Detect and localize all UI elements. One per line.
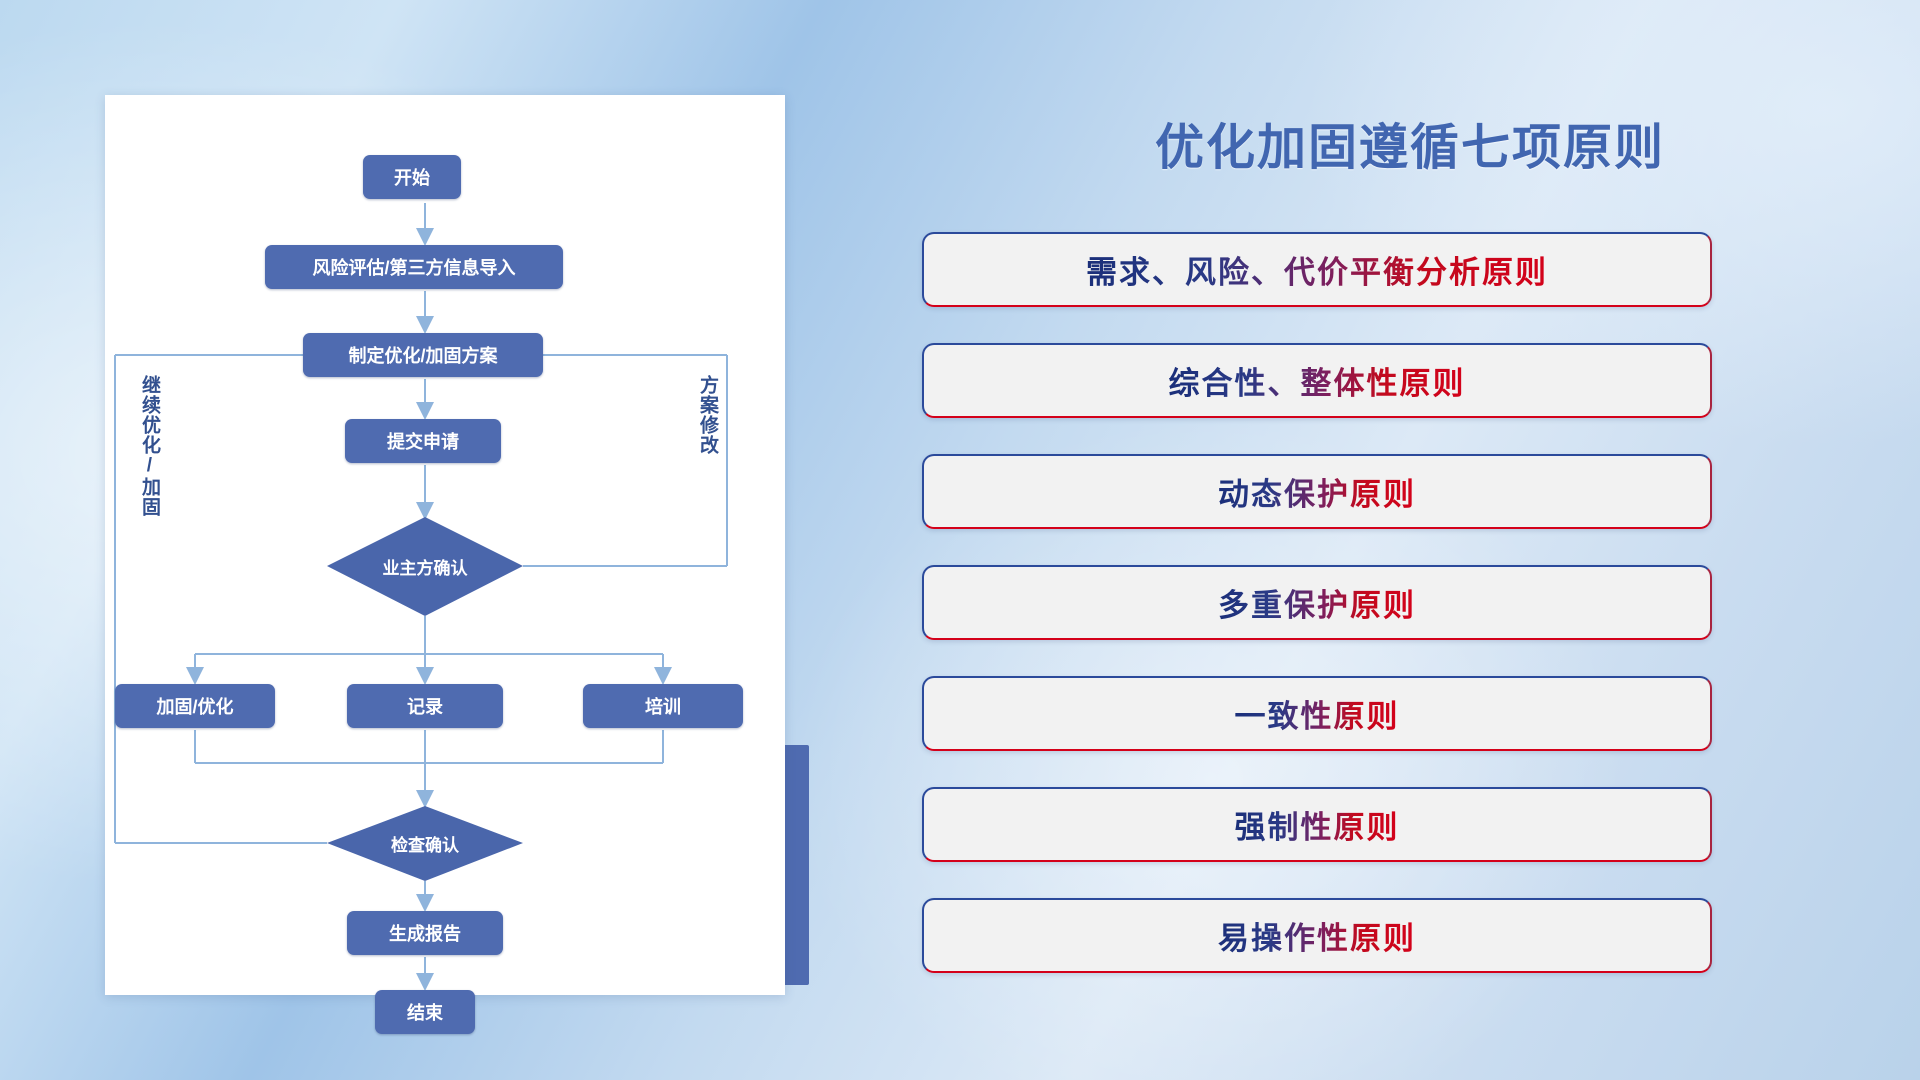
principle-card-3[interactable]: 动态保护原则 bbox=[922, 454, 1712, 529]
flow-node-record-label: 记录 bbox=[407, 693, 443, 719]
flow-node-check-confirm[interactable]: 检查确认 bbox=[327, 806, 523, 881]
flow-node-report[interactable]: 生成报告 bbox=[347, 911, 503, 955]
edge-label-right-loop: 方案修改 bbox=[697, 375, 717, 455]
principle-card-1[interactable]: 需求、风险、代价平衡分析原则 bbox=[922, 232, 1712, 307]
principle-card-3-label: 动态保护原则 bbox=[1218, 469, 1416, 514]
principle-card-6[interactable]: 强制性原则 bbox=[922, 787, 1712, 862]
flowchart-card: 继续优化/加固 方案修改 开始 风险评估/第三方信息导入 制定优化/加固方案 提… bbox=[105, 95, 785, 995]
principle-card-5-label: 一致性原则 bbox=[1235, 691, 1400, 736]
flow-node-submit-label: 提交申请 bbox=[387, 428, 459, 454]
principle-card-4-label: 多重保护原则 bbox=[1218, 580, 1416, 625]
flow-node-check-confirm-label: 检查确认 bbox=[327, 806, 523, 881]
flow-node-start-label: 开始 bbox=[394, 164, 430, 190]
flow-node-report-label: 生成报告 bbox=[389, 920, 461, 946]
principles-panel: 优化加固遵循七项原则 需求、风险、代价平衡分析原则 综合性、整体性原则 动态保护… bbox=[900, 0, 1920, 1080]
principle-card-7[interactable]: 易操作性原则 bbox=[922, 898, 1712, 973]
flow-node-end[interactable]: 结束 bbox=[375, 990, 475, 1034]
flow-node-risk-assessment-label: 风险评估/第三方信息导入 bbox=[313, 254, 516, 280]
flowchart-panel: 继续优化/加固 方案修改 开始 风险评估/第三方信息导入 制定优化/加固方案 提… bbox=[0, 0, 900, 1080]
principle-card-7-label: 易操作性原则 bbox=[1218, 913, 1416, 958]
edge-label-left-loop: 继续优化/加固 bbox=[139, 375, 159, 517]
principle-card-2[interactable]: 综合性、整体性原则 bbox=[922, 343, 1712, 418]
flow-node-reinforce-label: 加固/优化 bbox=[156, 693, 233, 719]
principle-card-6-label: 强制性原则 bbox=[1235, 802, 1400, 847]
flow-node-owner-confirm[interactable]: 业主方确认 bbox=[327, 517, 523, 616]
flow-node-risk-assessment[interactable]: 风险评估/第三方信息导入 bbox=[265, 245, 563, 289]
flow-node-training[interactable]: 培训 bbox=[583, 684, 743, 728]
principle-card-1-label: 需求、风险、代价平衡分析原则 bbox=[1086, 247, 1548, 292]
flow-node-record[interactable]: 记录 bbox=[347, 684, 503, 728]
flow-node-training-label: 培训 bbox=[645, 693, 681, 719]
flow-node-end-label: 结束 bbox=[407, 999, 443, 1025]
principle-card-5[interactable]: 一致性原则 bbox=[922, 676, 1712, 751]
flow-node-start[interactable]: 开始 bbox=[363, 155, 461, 199]
flow-node-owner-confirm-label: 业主方确认 bbox=[327, 517, 523, 616]
flow-node-reinforce[interactable]: 加固/优化 bbox=[115, 684, 275, 728]
principle-card-4[interactable]: 多重保护原则 bbox=[922, 565, 1712, 640]
principles-list: 需求、风险、代价平衡分析原则 综合性、整体性原则 动态保护原则 多重保护原则 一… bbox=[922, 232, 1712, 1009]
principle-card-2-label: 综合性、整体性原则 bbox=[1169, 358, 1466, 403]
flow-node-plan[interactable]: 制定优化/加固方案 bbox=[303, 333, 543, 377]
flow-node-plan-label: 制定优化/加固方案 bbox=[348, 342, 497, 368]
flow-node-submit[interactable]: 提交申请 bbox=[345, 419, 501, 463]
page-title: 优化加固遵循七项原则 bbox=[900, 108, 1920, 179]
